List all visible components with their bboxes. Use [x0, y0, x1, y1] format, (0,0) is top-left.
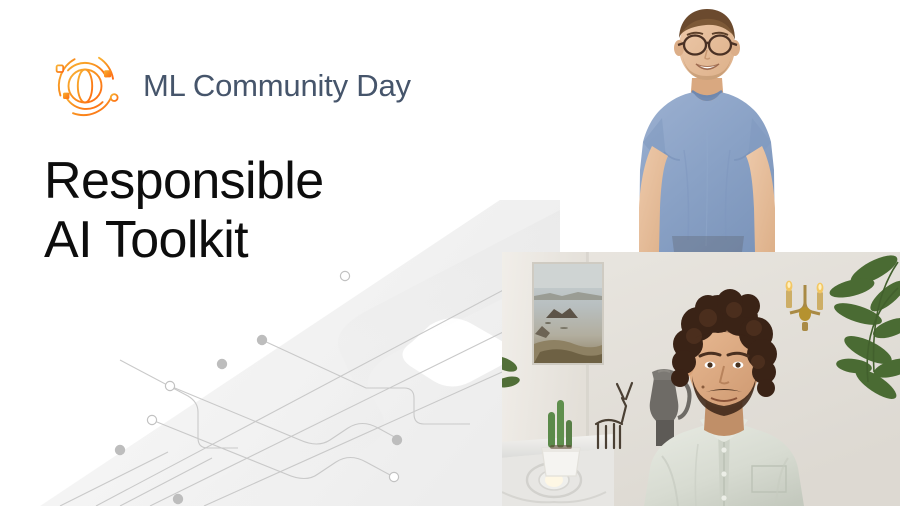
- node-circle-hollow: [111, 94, 118, 101]
- circuit-node-filled: [217, 359, 227, 369]
- framed-seascape-painting: [532, 262, 604, 365]
- circuit-node-filled: [173, 494, 183, 504]
- node-square-filled: [104, 70, 111, 77]
- circuit-node-hollow: [165, 381, 174, 390]
- circuit-node-filled: [392, 435, 402, 445]
- brand-lockup: ML Community Day: [44, 45, 411, 127]
- node-square-filled: [63, 93, 69, 99]
- speaker-bottom-description: Man with curly dark hair and beard weari…: [0, 0, 1, 1]
- speaker-top-description: Man with glasses and short brown hair we…: [0, 0, 1, 1]
- node-square-hollow: [57, 65, 64, 72]
- brand-name: ML Community Day: [143, 68, 411, 104]
- title-slide: ML Community Day Responsible AI Toolkit: [0, 0, 900, 506]
- speaker-video-bottom[interactable]: [502, 252, 900, 506]
- circuit-node-hollow: [147, 415, 156, 424]
- page-title: Responsible AI Toolkit: [44, 152, 324, 270]
- globe-orbit-icon: [44, 45, 126, 127]
- circuit-node-group: [115, 271, 402, 504]
- circuit-node-filled: [257, 335, 267, 345]
- circuit-node-hollow: [389, 472, 398, 481]
- speaker-cutout-top: [612, 0, 802, 252]
- circuit-node-filled: [115, 445, 125, 455]
- circuit-node-hollow: [340, 271, 349, 280]
